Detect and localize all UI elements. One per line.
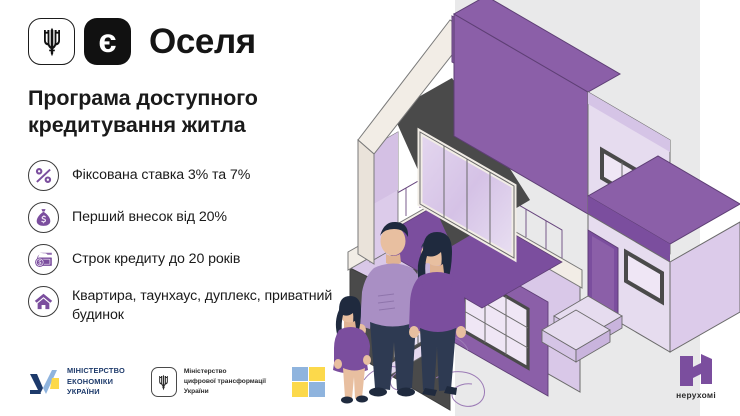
ministry-economy-mark (30, 369, 60, 395)
ministry-digital-label: Міністерство цифрової трансформації Укра… (184, 367, 266, 397)
house-icon (28, 286, 59, 317)
list-item-label: Квартира, таунхаус, дуплекс, приватний б… (72, 286, 358, 325)
list-item: Строк кредиту до 20 років (28, 244, 358, 275)
mineco-line-2: ЕКОНОМІКИ (67, 377, 125, 388)
list-item-label: Фіксована ставка 3% та 7% (72, 160, 250, 185)
four-square-grid (292, 367, 325, 397)
features-list: Фіксована ставка 3% та 7% Перший внесок … (28, 160, 358, 325)
money-bag-icon (28, 202, 59, 233)
four-square-logo (292, 367, 325, 398)
diia-logo: є (84, 18, 131, 65)
cash-coins-icon (28, 244, 59, 275)
ministry-economy-label: МІНІСТЕРСТВО ЕКОНОМІКИ УКРАЇНИ (67, 366, 125, 398)
partner-logos: МІНІСТЕРСТВО ЕКОНОМІКИ УКРАЇНИ Міністерс… (30, 366, 325, 398)
mineco-line-1: МІНІСТЕРСТВО (67, 366, 125, 377)
list-item-label: Перший внесок від 20% (72, 202, 227, 227)
poster-canvas: є Оселя Програма доступного кредитування… (0, 0, 740, 416)
list-item: Перший внесок від 20% (28, 202, 358, 233)
list-item-label: Строк кредиту до 20 років (72, 244, 240, 269)
ukraine-trident-icon (151, 367, 177, 397)
nerukhomi-caption: нерухомі (676, 390, 716, 400)
program-title: Оселя (149, 22, 256, 62)
ministry-of-economy-logo: МІНІСТЕРСТВО ЕКОНОМІКИ УКРАЇНИ (30, 366, 125, 398)
headline-text: Програма доступного кредитування житла (28, 85, 348, 140)
nerukhomi-logo: нерухомі (676, 354, 716, 400)
mindigi-line-1: Міністерство (184, 367, 266, 377)
nerukhomi-mark (678, 354, 714, 388)
mindigi-line-3: України (184, 387, 266, 397)
list-item: Фіксована ставка 3% та 7% (28, 160, 358, 191)
content-column: є Оселя Програма доступного кредитування… (0, 0, 400, 416)
ukraine-trident-icon (28, 18, 75, 65)
ministry-of-digital-transformation-logo: Міністерство цифрової трансформації Укра… (151, 367, 266, 397)
mineco-line-3: УКРАЇНИ (67, 387, 125, 398)
mindigi-line-2: цифрової трансформації (184, 377, 266, 387)
list-item: Квартира, таунхаус, дуплекс, приватний б… (28, 286, 358, 325)
brand-lockup: є Оселя (28, 18, 256, 65)
percent-icon (28, 160, 59, 191)
